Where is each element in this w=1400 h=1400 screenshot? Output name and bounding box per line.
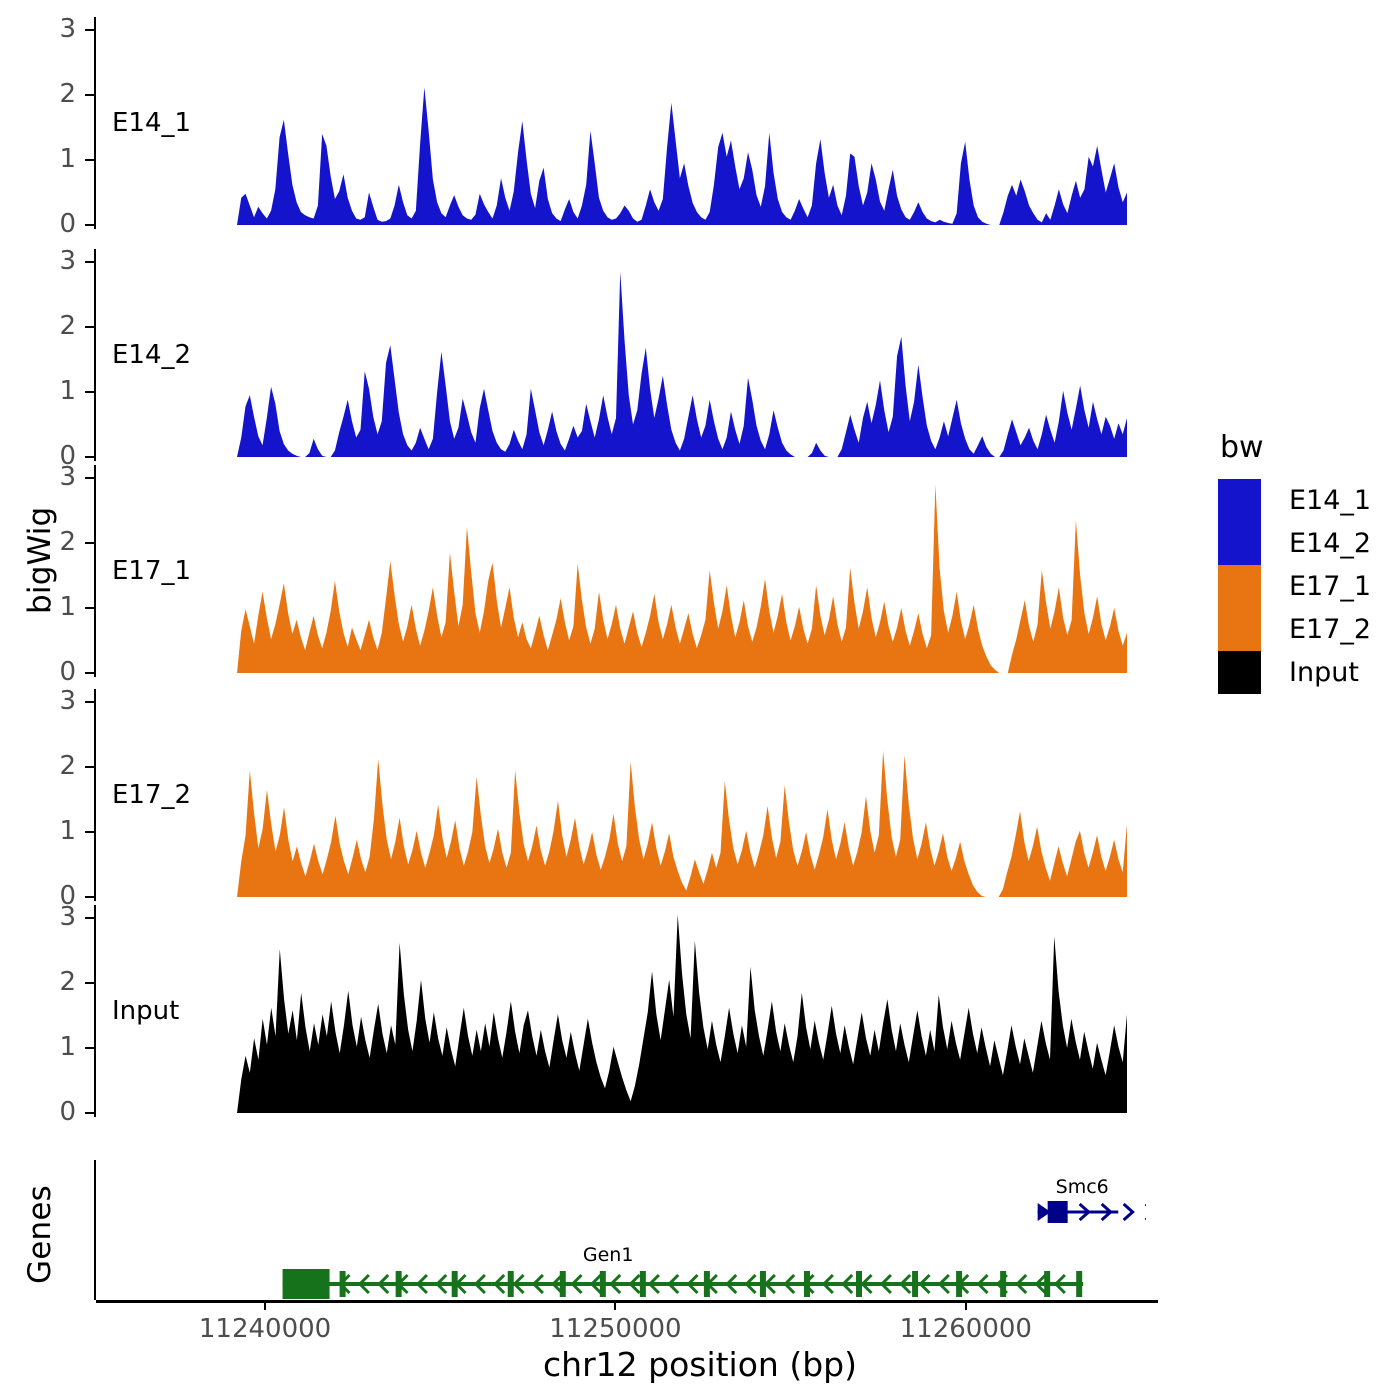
legend-label-e14_1: E14_1	[1289, 485, 1371, 516]
y-tick-input-3	[85, 917, 94, 919]
signal-area-e14_1	[237, 8, 1127, 227]
x-axis-line	[96, 1300, 1158, 1303]
y-tick-e17_1-3	[85, 477, 94, 479]
legend-swatch-input	[1218, 651, 1261, 694]
legend: bw E14_1E14_2E17_1E17_2Input	[1218, 430, 1371, 694]
track-label-e14_2: E14_2	[112, 340, 191, 370]
y-tick-e14_1-1	[85, 159, 94, 161]
y-tick-label-e17_1-1: 1	[32, 594, 76, 620]
y-tick-e17_2-0	[85, 896, 94, 898]
x-tick-11260000	[965, 1300, 967, 1310]
x-tick-label-11260000: 11260000	[866, 1314, 1066, 1344]
legend-item-input[interactable]: Input	[1218, 651, 1371, 694]
y-tick-label-e17_2-2: 2	[32, 753, 76, 779]
x-tick-11240000	[264, 1300, 266, 1310]
y-tick-e14_2-0	[85, 456, 94, 458]
y-tick-label-e14_1-2: 2	[32, 81, 76, 107]
signal-area-e17_1	[237, 456, 1127, 675]
y-tick-label-e17_1-2: 2	[32, 529, 76, 555]
signal-area-e14_2	[237, 240, 1127, 459]
y-tick-e14_1-3	[85, 29, 94, 31]
y-tick-e17_2-1	[85, 831, 94, 833]
legend-item-e17_2[interactable]: E17_2	[1218, 608, 1371, 651]
legend-items: E14_1E14_2E17_1E17_2Input	[1218, 479, 1371, 694]
track-label-e17_2: E17_2	[112, 780, 191, 810]
y-tick-e17_2-2	[85, 766, 94, 768]
y-tick-e17_1-2	[85, 542, 94, 544]
y-tick-label-e14_2-3: 3	[32, 248, 76, 274]
y-axis-line-input	[94, 905, 96, 1117]
y-tick-e17_2-3	[85, 701, 94, 703]
x-tick-label-11240000: 11240000	[165, 1314, 365, 1344]
signal-area-input	[237, 896, 1127, 1115]
legend-label-e14_2: E14_2	[1289, 528, 1371, 559]
legend-swatch-e14_1	[1218, 479, 1261, 522]
signal-area-e17_2	[237, 680, 1127, 899]
y-tick-label-e17_2-3: 3	[32, 688, 76, 714]
y-tick-e14_2-1	[85, 391, 94, 393]
x-tick-11250000	[614, 1300, 616, 1310]
legend-swatch-e17_2	[1218, 608, 1261, 651]
y-tick-label-input-2: 2	[32, 969, 76, 995]
genes-track: Smc6Gen1	[96, 1160, 1146, 1300]
legend-title: bw	[1220, 430, 1371, 465]
legend-label-e17_2: E17_2	[1289, 614, 1371, 645]
y-tick-label-input-3: 3	[32, 904, 76, 930]
y-tick-e17_1-1	[85, 607, 94, 609]
y-tick-input-0	[85, 1112, 94, 1114]
legend-label-e17_1: E17_1	[1289, 571, 1371, 602]
y-tick-label-e14_2-2: 2	[32, 313, 76, 339]
x-axis-title: chr12 position (bp)	[0, 1345, 1400, 1384]
y-tick-e17_1-0	[85, 672, 94, 674]
y-tick-e14_2-2	[85, 326, 94, 328]
y-tick-label-e17_1-3: 3	[32, 464, 76, 490]
y-tick-label-input-1: 1	[32, 1034, 76, 1060]
legend-item-e14_2[interactable]: E14_2	[1218, 522, 1371, 565]
legend-item-e14_1[interactable]: E14_1	[1218, 479, 1371, 522]
y-tick-e14_1-0	[85, 224, 94, 226]
y-tick-label-e14_1-3: 3	[32, 16, 76, 42]
y-tick-label-e17_1-0: 0	[32, 659, 76, 685]
y-tick-e14_1-2	[85, 94, 94, 96]
legend-label-input: Input	[1289, 657, 1359, 688]
y-tick-input-1	[85, 1047, 94, 1049]
y-tick-label-e14_2-1: 1	[32, 378, 76, 404]
gene-label-gen1: Gen1	[583, 1244, 634, 1266]
y-axis-line-e17_2	[94, 689, 96, 901]
y-axis-line-e17_1	[94, 465, 96, 677]
legend-item-e17_1[interactable]: E17_1	[1218, 565, 1371, 608]
y-tick-e14_2-3	[85, 261, 94, 263]
y-axis-title-bigwig: bigWig	[22, 470, 58, 650]
y-axis-title-genes: Genes	[22, 1165, 58, 1305]
y-tick-label-e17_2-1: 1	[32, 818, 76, 844]
y-tick-label-e14_1-0: 0	[32, 211, 76, 237]
gene-label-smc6: Smc6	[1056, 1176, 1109, 1198]
y-axis-line-e14_1	[94, 17, 96, 229]
y-axis-line-e14_2	[94, 249, 96, 461]
y-tick-input-2	[85, 982, 94, 984]
x-tick-label-11250000: 11250000	[515, 1314, 715, 1344]
legend-swatch-e14_2	[1218, 522, 1261, 565]
legend-swatch-e17_1	[1218, 565, 1261, 608]
track-label-e14_1: E14_1	[112, 108, 191, 138]
track-label-input: Input	[112, 996, 179, 1026]
track-label-e17_1: E17_1	[112, 556, 191, 586]
y-tick-label-input-0: 0	[32, 1099, 76, 1125]
y-tick-label-e14_1-1: 1	[32, 146, 76, 172]
